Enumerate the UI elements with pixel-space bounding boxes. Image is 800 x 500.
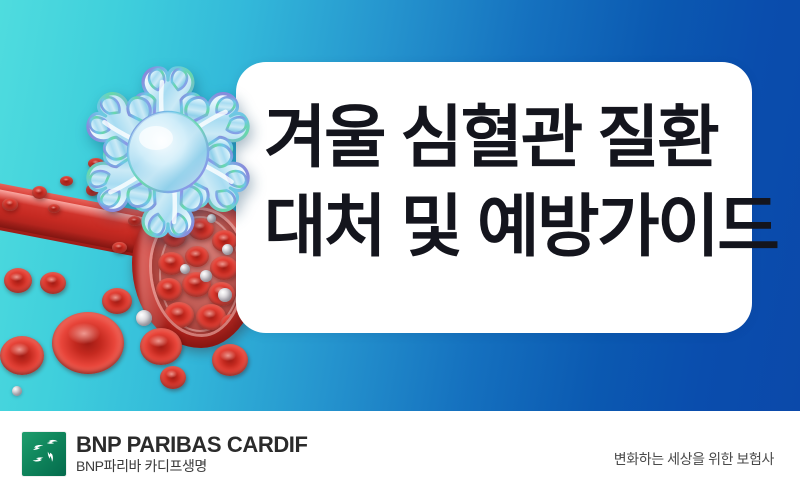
page-title: 겨울 심혈관 질환 대처 및 예방가이드 bbox=[264, 104, 734, 261]
footer: BNP PARIBAS CARDIF BNP파리바 카디프생명 변화하는 세상을… bbox=[0, 411, 800, 500]
brand-wordmark: BNP PARIBAS CARDIF BNP파리바 카디프생명 bbox=[76, 434, 308, 475]
red-blood-cell bbox=[0, 336, 44, 375]
brand-subtitle: BNP파리바 카디프생명 bbox=[76, 458, 308, 475]
red-blood-cell bbox=[4, 268, 32, 293]
red-blood-cell bbox=[160, 366, 186, 389]
headline-line-1: 겨울 심혈관 질환 bbox=[264, 104, 734, 172]
red-blood-cell bbox=[102, 288, 132, 314]
brand-logo: BNP PARIBAS CARDIF BNP파리바 카디프생명 bbox=[22, 432, 308, 476]
brand-tagline: 변화하는 세상을 위한 보험사 bbox=[614, 449, 774, 469]
red-blood-cell bbox=[2, 198, 18, 211]
headline-line-2: 대처 및 예방가이드 bbox=[264, 193, 734, 261]
platelet bbox=[12, 386, 22, 396]
promotional-banner: 겨울 심혈관 질환 대처 및 예방가이드 BNP PARIBAS CARDIF … bbox=[0, 0, 800, 500]
snowflake-icon bbox=[52, 44, 284, 260]
red-blood-cell bbox=[52, 312, 124, 374]
hero-background: 겨울 심혈관 질환 대처 및 예방가이드 bbox=[0, 0, 800, 411]
brand-name: BNP PARIBAS CARDIF bbox=[76, 434, 308, 457]
red-blood-cell bbox=[212, 344, 248, 376]
platelet bbox=[136, 310, 152, 326]
red-blood-cell bbox=[40, 272, 66, 294]
red-blood-cell bbox=[32, 186, 47, 199]
red-blood-cell bbox=[140, 328, 182, 365]
bnp-paribas-courbes-logo-icon bbox=[22, 432, 66, 476]
